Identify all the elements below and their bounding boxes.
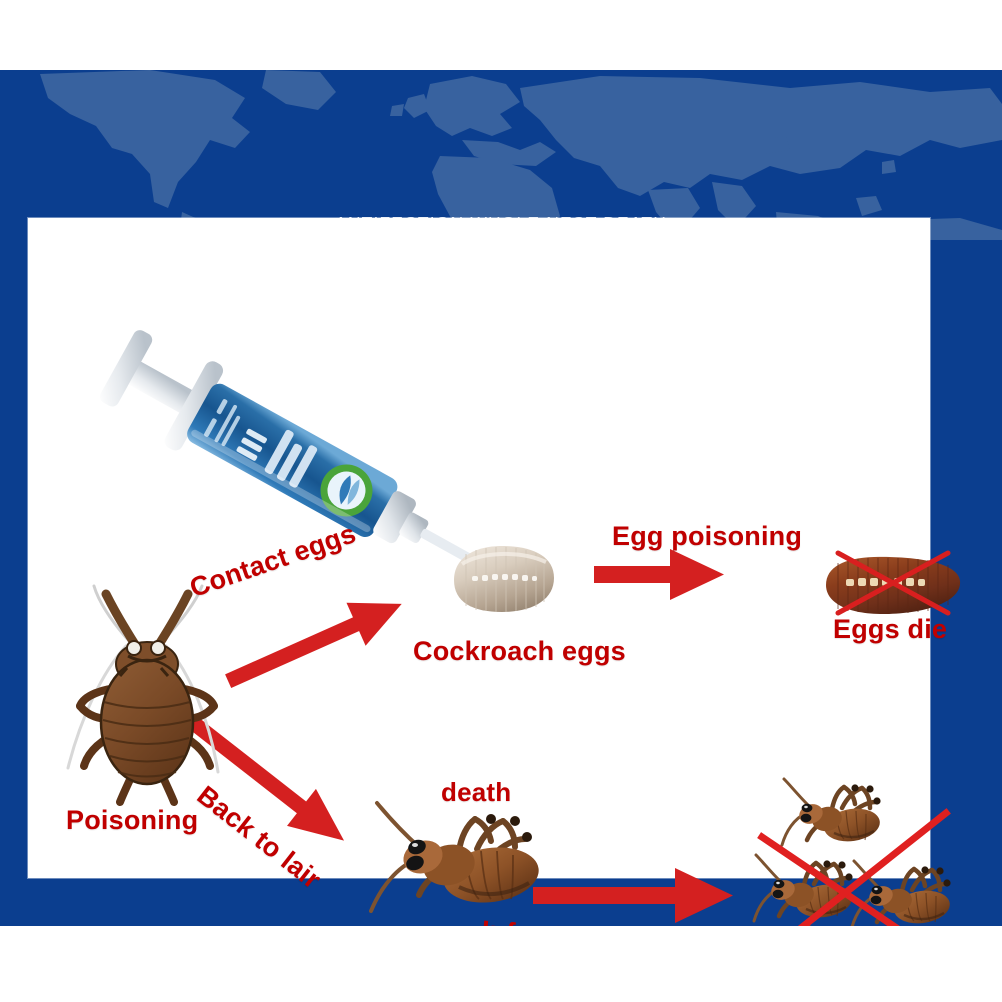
blue-product-frame: ANTIFECTION WHOLE NEST DEATH: [0, 70, 1002, 926]
label-eggs-die: Eggs die: [833, 614, 947, 645]
infographic-stage: ANTIFECTION WHOLE NEST DEATH: [0, 0, 1002, 1002]
arrow-infective-companion: [533, 865, 733, 925]
label-egg-poisoning: Egg poisoning: [612, 521, 802, 552]
cockroach-dead-icon: [361, 793, 561, 923]
egg-case-icon: [440, 530, 566, 626]
label-cockroach-eggs: Cockroach eggs: [413, 636, 626, 667]
egg-case-dead-icon: [818, 551, 968, 621]
diagram-canvas: Contact eggs Cockroach eggs Egg poisonin…: [28, 218, 930, 878]
cockroach-dead-group-icon: [746, 773, 992, 926]
cockroach-icon: [58, 580, 254, 812]
arrow-egg-poisoning: [594, 545, 724, 605]
label-death: death: [441, 777, 511, 808]
label-poisoning: Poisoning: [66, 805, 198, 836]
